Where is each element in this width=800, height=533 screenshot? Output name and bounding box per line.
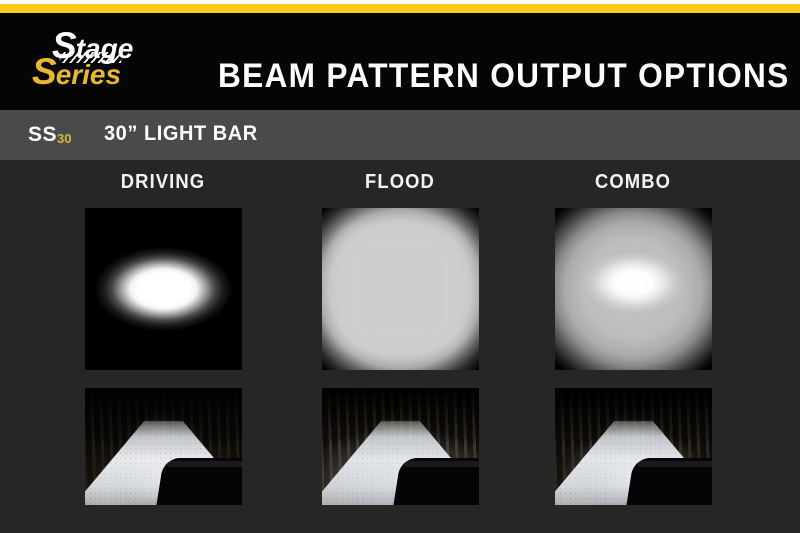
logo-line-series: Series bbox=[32, 53, 121, 90]
road-scene-driving bbox=[85, 388, 242, 505]
top-accent-bar bbox=[0, 4, 800, 13]
product-subtitle-bar: SS30 30” LIGHT BAR bbox=[0, 110, 800, 160]
header-bar: Stage Series BEAM PATTERN OUTPUT OPTIONS bbox=[0, 13, 800, 110]
vehicle-hood bbox=[156, 458, 242, 505]
logo-series-cap: S bbox=[32, 51, 56, 92]
column-title-driving: DRIVING bbox=[55, 172, 270, 192]
column-title-combo: COMBO bbox=[525, 172, 740, 192]
road-photo-driving bbox=[85, 388, 242, 505]
road-photo-combo bbox=[555, 388, 712, 505]
beam-core-flood bbox=[322, 208, 479, 370]
column-title-flood: FLOOD bbox=[292, 172, 507, 192]
road-scene-combo bbox=[555, 388, 712, 505]
logo-series-rest: eries bbox=[56, 59, 121, 90]
stage-series-logo: Stage Series bbox=[26, 27, 191, 101]
vehicle-hood bbox=[626, 458, 712, 505]
beam-pattern-combo bbox=[555, 208, 712, 370]
road-scene-flood bbox=[322, 388, 479, 505]
ss30-badge-prefix: SS bbox=[28, 123, 57, 146]
beam-pattern-driving bbox=[85, 208, 242, 370]
product-subtitle-label: 30” LIGHT BAR bbox=[104, 123, 258, 144]
road-photo-flood bbox=[322, 388, 479, 505]
ss30-badge-suffix: 30 bbox=[57, 131, 71, 146]
comparison-grid: DRIVING FLOOD bbox=[0, 160, 800, 533]
beam-core-combo bbox=[555, 208, 712, 370]
beam-core-driving bbox=[85, 208, 242, 370]
vehicle-hood bbox=[393, 458, 479, 505]
beam-pattern-flood bbox=[322, 208, 479, 370]
page-title: BEAM PATTERN OUTPUT OPTIONS bbox=[218, 59, 790, 93]
ss30-badge: SS30 bbox=[28, 124, 71, 145]
beam-pattern-infographic: Stage Series BEAM PATTERN OUTPUT OPTIONS… bbox=[0, 0, 800, 533]
